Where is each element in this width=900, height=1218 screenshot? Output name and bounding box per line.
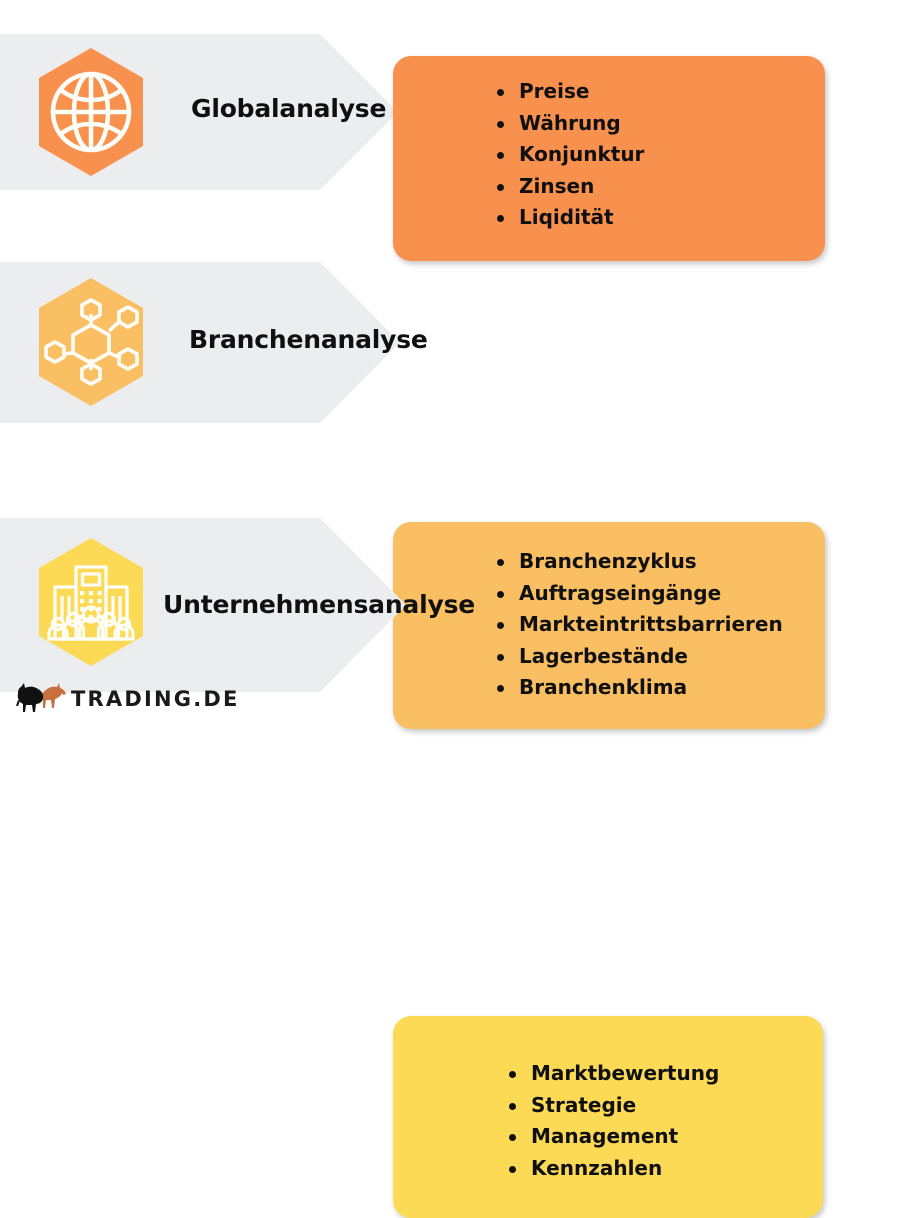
- globe-icon: [35, 48, 147, 176]
- row-title-global: Globalanalyse: [191, 94, 386, 123]
- logo-text: TRADING.DE: [71, 687, 240, 711]
- list-item: Strategie: [505, 1090, 823, 1122]
- bull-icon: [16, 681, 68, 717]
- row-title-company: Unternehmensanalyse: [163, 590, 475, 619]
- site-logo[interactable]: TRADING.DE: [16, 681, 240, 717]
- bullet-list-global: Preise Währung Konjunktur Zinsen Liqidit…: [493, 76, 825, 234]
- bullet-list-company: Marktbewertung Strategie Management Kenn…: [505, 1058, 823, 1184]
- content-card-company: Marktbewertung Strategie Management Kenn…: [393, 1016, 823, 1218]
- list-item: Liqidität: [493, 202, 825, 234]
- office-building-people-icon: [35, 538, 147, 666]
- content-card-global: Preise Währung Konjunktur Zinsen Liqidit…: [393, 56, 825, 261]
- list-item: Kennzahlen: [505, 1153, 823, 1185]
- analysis-row-industry: Branchenanalyse Branchenzyklus Auftragse…: [0, 262, 900, 423]
- fundamental-analysis-infographic: Globalanalyse Preise Währung Konjunktur …: [0, 0, 900, 720]
- list-item: Preise: [493, 76, 825, 108]
- row-title-industry: Branchenanalyse: [189, 325, 428, 354]
- analysis-row-global: Globalanalyse Preise Währung Konjunktur …: [0, 34, 900, 190]
- molecule-network-icon: [35, 278, 147, 406]
- list-item: Konjunktur: [493, 139, 825, 171]
- list-item: Währung: [493, 108, 825, 140]
- analysis-row-company: Unternehmensanalyse Marktbewertung Strat…: [0, 518, 900, 692]
- list-item: Management: [505, 1121, 823, 1153]
- list-item: Zinsen: [493, 171, 825, 203]
- list-item: Marktbewertung: [505, 1058, 823, 1090]
